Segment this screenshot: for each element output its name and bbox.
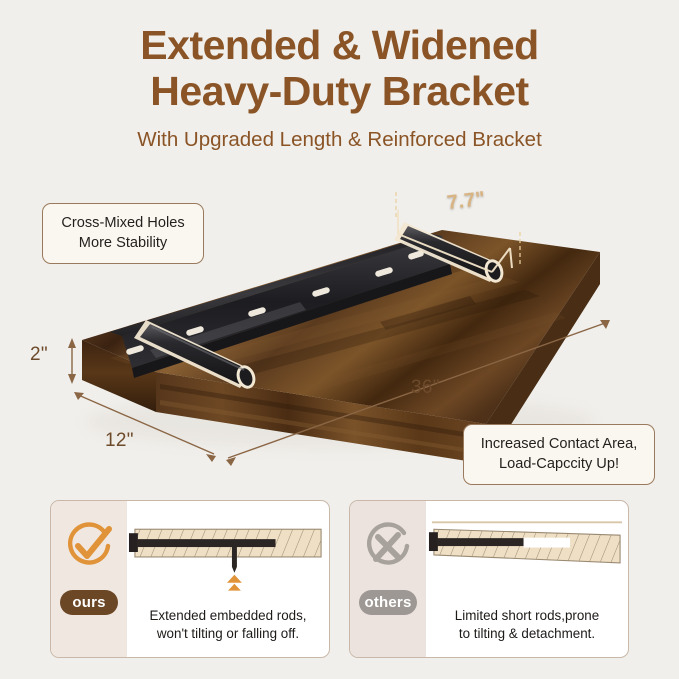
infographic-root: Extended & Widened Heavy-Duty Bracket Wi… <box>0 0 679 679</box>
panel-others: others <box>349 500 629 658</box>
short-rod <box>437 538 524 546</box>
detachment-gap <box>524 538 570 547</box>
panel-ours-caption-line2: won't tilting or falling off. <box>133 625 323 643</box>
embedded-rod <box>137 539 276 547</box>
callout-cross-mixed-holes: Cross-Mixed Holes More Stability <box>42 203 204 264</box>
badge-others: others <box>359 590 417 615</box>
panel-ours-badge-area: ours <box>51 501 127 657</box>
panel-ours-caption-line1: Extended embedded rods, <box>133 607 323 625</box>
panel-ours-caption: Extended embedded rods, won't tilting or… <box>127 607 329 643</box>
x-circle-icon <box>362 521 414 573</box>
badge-ours: ours <box>60 590 118 615</box>
panel-others-caption-line2: to tilting & detachment. <box>432 625 622 643</box>
panel-others-badge-area: others <box>350 501 426 657</box>
panel-others-caption: Limited short rods,prone to tilting & de… <box>426 607 628 643</box>
panel-others-caption-line1: Limited short rods,prone <box>432 607 622 625</box>
panel-others-diagram-area: Limited short rods,prone to tilting & de… <box>426 501 628 657</box>
callout-increased-contact-area: Increased Contact Area, Load-Capccity Up… <box>463 424 655 485</box>
dimension-label-rod: 7.7" <box>446 188 487 216</box>
screw-icon <box>232 545 237 573</box>
rod-plate <box>429 532 438 551</box>
diagram-short-rod <box>426 507 628 599</box>
load-arrow-icon <box>227 575 242 591</box>
diagram-extended-rod <box>127 507 329 599</box>
callout-contact-line1: Increased Contact Area, <box>476 434 642 454</box>
rod-plate <box>129 533 138 552</box>
callout-holes-line1: Cross-Mixed Holes <box>55 213 191 233</box>
panel-ours: ours <box>50 500 330 658</box>
dimension-label-depth: 12" <box>105 430 134 452</box>
panel-ours-diagram-area: Extended embedded rods, won't tilting or… <box>127 501 329 657</box>
check-circle-icon <box>63 521 115 573</box>
callout-holes-line2: More Stability <box>55 233 191 253</box>
comparison-panels: ours <box>0 500 679 662</box>
page-subtitle: With Upgraded Length & Reinforced Bracke… <box>0 128 679 152</box>
callout-contact-line2: Load-Capccity Up! <box>476 454 642 474</box>
page-title-line1: Extended & Widened <box>0 22 679 68</box>
header: Extended & Widened Heavy-Duty Bracket Wi… <box>0 22 679 152</box>
dimension-label-length: 36" <box>411 377 440 399</box>
dimension-label-thickness: 2" <box>30 344 48 366</box>
page-title-line2: Heavy-Duty Bracket <box>0 68 679 114</box>
